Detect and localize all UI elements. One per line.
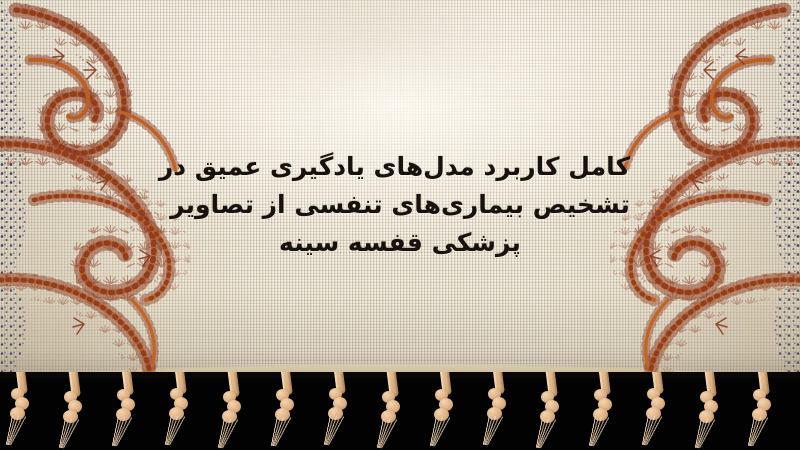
tassel-brush <box>748 416 773 448</box>
tassel-brush <box>377 418 402 450</box>
tassel <box>432 373 458 445</box>
tassel <box>644 372 670 444</box>
knotted-tassel-fringe <box>0 372 800 450</box>
tassel-brush <box>271 416 296 448</box>
tassel-brush <box>483 415 508 447</box>
tassel <box>273 373 299 445</box>
tassel <box>61 375 87 447</box>
tassel-brush <box>112 416 137 448</box>
tassel-brush <box>59 418 84 450</box>
tassel <box>379 375 405 447</box>
tassel <box>485 372 511 444</box>
tassel <box>167 372 193 444</box>
title-line-3: پزشکی قفسه سینه <box>170 224 630 262</box>
tassel <box>114 373 140 445</box>
title-banner: کامل کاربرد مدل‌های یادگیری عمیق در تشخی… <box>0 0 800 450</box>
page-title: کامل کاربرد مدل‌های یادگیری عمیق در تشخی… <box>0 148 800 262</box>
tassel-brush <box>6 415 31 447</box>
tassel-brush <box>165 415 190 447</box>
tassel-brush <box>218 418 243 450</box>
tassel-brush <box>642 415 667 447</box>
title-line-2: تشخیص بیماری‌های تنفسی از تصاویر <box>170 186 630 224</box>
tassel-brush <box>430 416 455 448</box>
tassel-brush <box>589 416 614 448</box>
tassel <box>750 373 776 445</box>
tassel <box>220 375 246 447</box>
tassel <box>8 372 34 444</box>
tassel <box>697 375 723 447</box>
title-line-1: کامل کاربرد مدل‌های یادگیری عمیق در <box>170 148 630 186</box>
tassel-brush <box>536 418 561 450</box>
tassel <box>591 373 617 445</box>
tassel <box>326 372 352 444</box>
tassel-brush <box>324 415 349 447</box>
tassel <box>538 375 564 447</box>
tassel-brush <box>695 418 720 450</box>
